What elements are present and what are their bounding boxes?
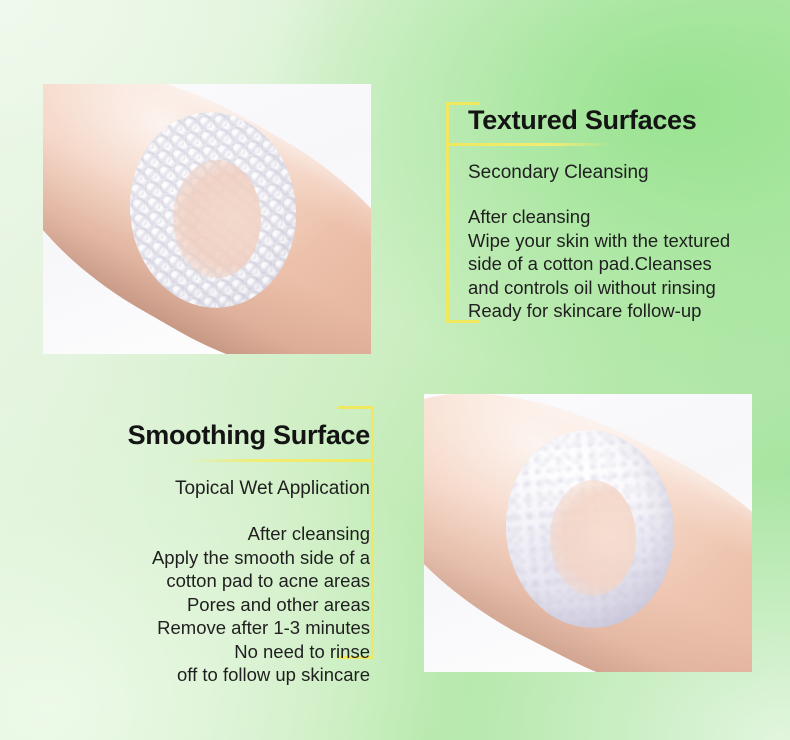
panel-textured-subtitle: Secondary Cleansing: [468, 161, 768, 185]
panel-smooth-body-line: Pores and other areas: [50, 593, 370, 617]
bracket-vertical-left: [446, 102, 449, 323]
panel-textured-body: After cleansing Wipe your skin with the …: [468, 205, 768, 323]
panel-smooth-body-line: off to follow up skincare: [50, 663, 370, 687]
panel-textured-text: Textured Surfaces Secondary Cleansing Af…: [468, 103, 768, 323]
panel-textured-body-line: and controls oil without rinsing: [468, 276, 768, 300]
panel-smooth-body-line: Remove after 1-3 minutes: [50, 616, 370, 640]
panel-textured-title: Textured Surfaces: [468, 103, 768, 137]
bracket-stub-top-right: [338, 406, 374, 409]
panel-textured-body-line: After cleansing: [468, 205, 768, 229]
panel-smooth-title: Smoothing Surface: [50, 418, 370, 452]
panel-textured-body-line: Wipe your skin with the textured: [468, 229, 768, 253]
cotton-pad-notch: [550, 480, 636, 596]
cotton-pad-notch: [173, 160, 261, 278]
panel-smooth-body-line: cotton pad to acne areas: [50, 569, 370, 593]
panel-smooth-body-line: Apply the smooth side of a: [50, 546, 370, 570]
bracket-vertical-right: [371, 406, 374, 659]
panel-smooth-body-line: After cleansing: [50, 522, 370, 546]
panel-smooth-body: After cleansing Apply the smooth side of…: [50, 522, 370, 687]
photo-textured-pad-on-skin: [43, 84, 371, 354]
panel-smooth-text: Smoothing Surface Topical Wet Applicatio…: [50, 418, 370, 687]
panel-textured-body-line: Ready for skincare follow-up: [468, 299, 768, 323]
panel-smooth-body-line: No need to rinse: [50, 640, 370, 664]
panel-smooth-subtitle: Topical Wet Application: [50, 477, 370, 501]
panel-textured-body-line: side of a cotton pad.Cleanses: [468, 252, 768, 276]
product-infographic-poster: Textured Surfaces Secondary Cleansing Af…: [0, 0, 790, 740]
photo-smooth-pad-on-skin: [424, 394, 752, 672]
